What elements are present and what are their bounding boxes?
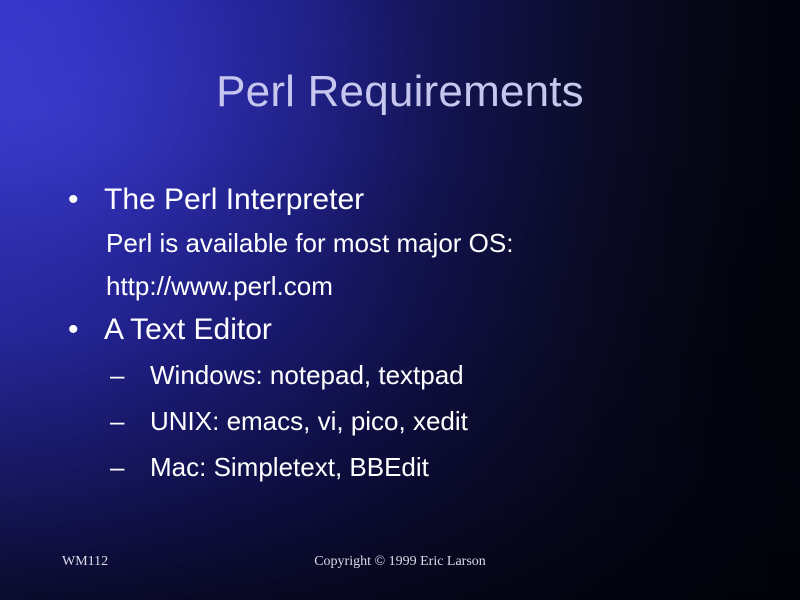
presentation-slide: Perl Requirements • The Perl Interpreter…: [0, 0, 800, 600]
slide-title: Perl Requirements: [0, 68, 800, 116]
bullet-level2-perl-url: http://www.perl.com: [58, 265, 758, 308]
slide-body: • The Perl Interpreter Perl is available…: [58, 178, 758, 490]
bullet-dash-icon: –: [110, 398, 124, 444]
bullet-level2-availability: Perl is available for most major OS:: [58, 222, 758, 265]
bullet-level3-unix-editors: – UNIX: emacs, vi, pico, xedit: [58, 398, 758, 444]
bullet-text: Perl is available for most major OS:: [106, 228, 513, 258]
bullet-level1-perl-interpreter: • The Perl Interpreter: [58, 178, 758, 222]
bullet-dot-icon: •: [68, 178, 114, 222]
bullet-dot-icon: •: [68, 308, 114, 352]
bullet-text: The Perl Interpreter: [104, 183, 364, 216]
bullet-text: UNIX: emacs, vi, pico, xedit: [150, 406, 468, 436]
bullet-dash-icon: –: [110, 352, 124, 398]
slide-footer: WM112 Copyright © 1999 Eric Larson: [0, 554, 800, 574]
bullet-text: Windows: notepad, textpad: [150, 360, 464, 390]
bullet-text: Mac: Simpletext, BBEdit: [150, 452, 429, 482]
bullet-text: A Text Editor: [104, 313, 272, 346]
bullet-level1-text-editor: • A Text Editor: [58, 308, 758, 352]
bullet-level3-windows-editors: – Windows: notepad, textpad: [58, 352, 758, 398]
bullet-text: http://www.perl.com: [106, 271, 333, 301]
footer-copyright: Copyright © 1999 Eric Larson: [0, 554, 800, 570]
bullet-dash-icon: –: [110, 444, 124, 490]
bullet-level3-mac-editors: – Mac: Simpletext, BBEdit: [58, 444, 758, 490]
